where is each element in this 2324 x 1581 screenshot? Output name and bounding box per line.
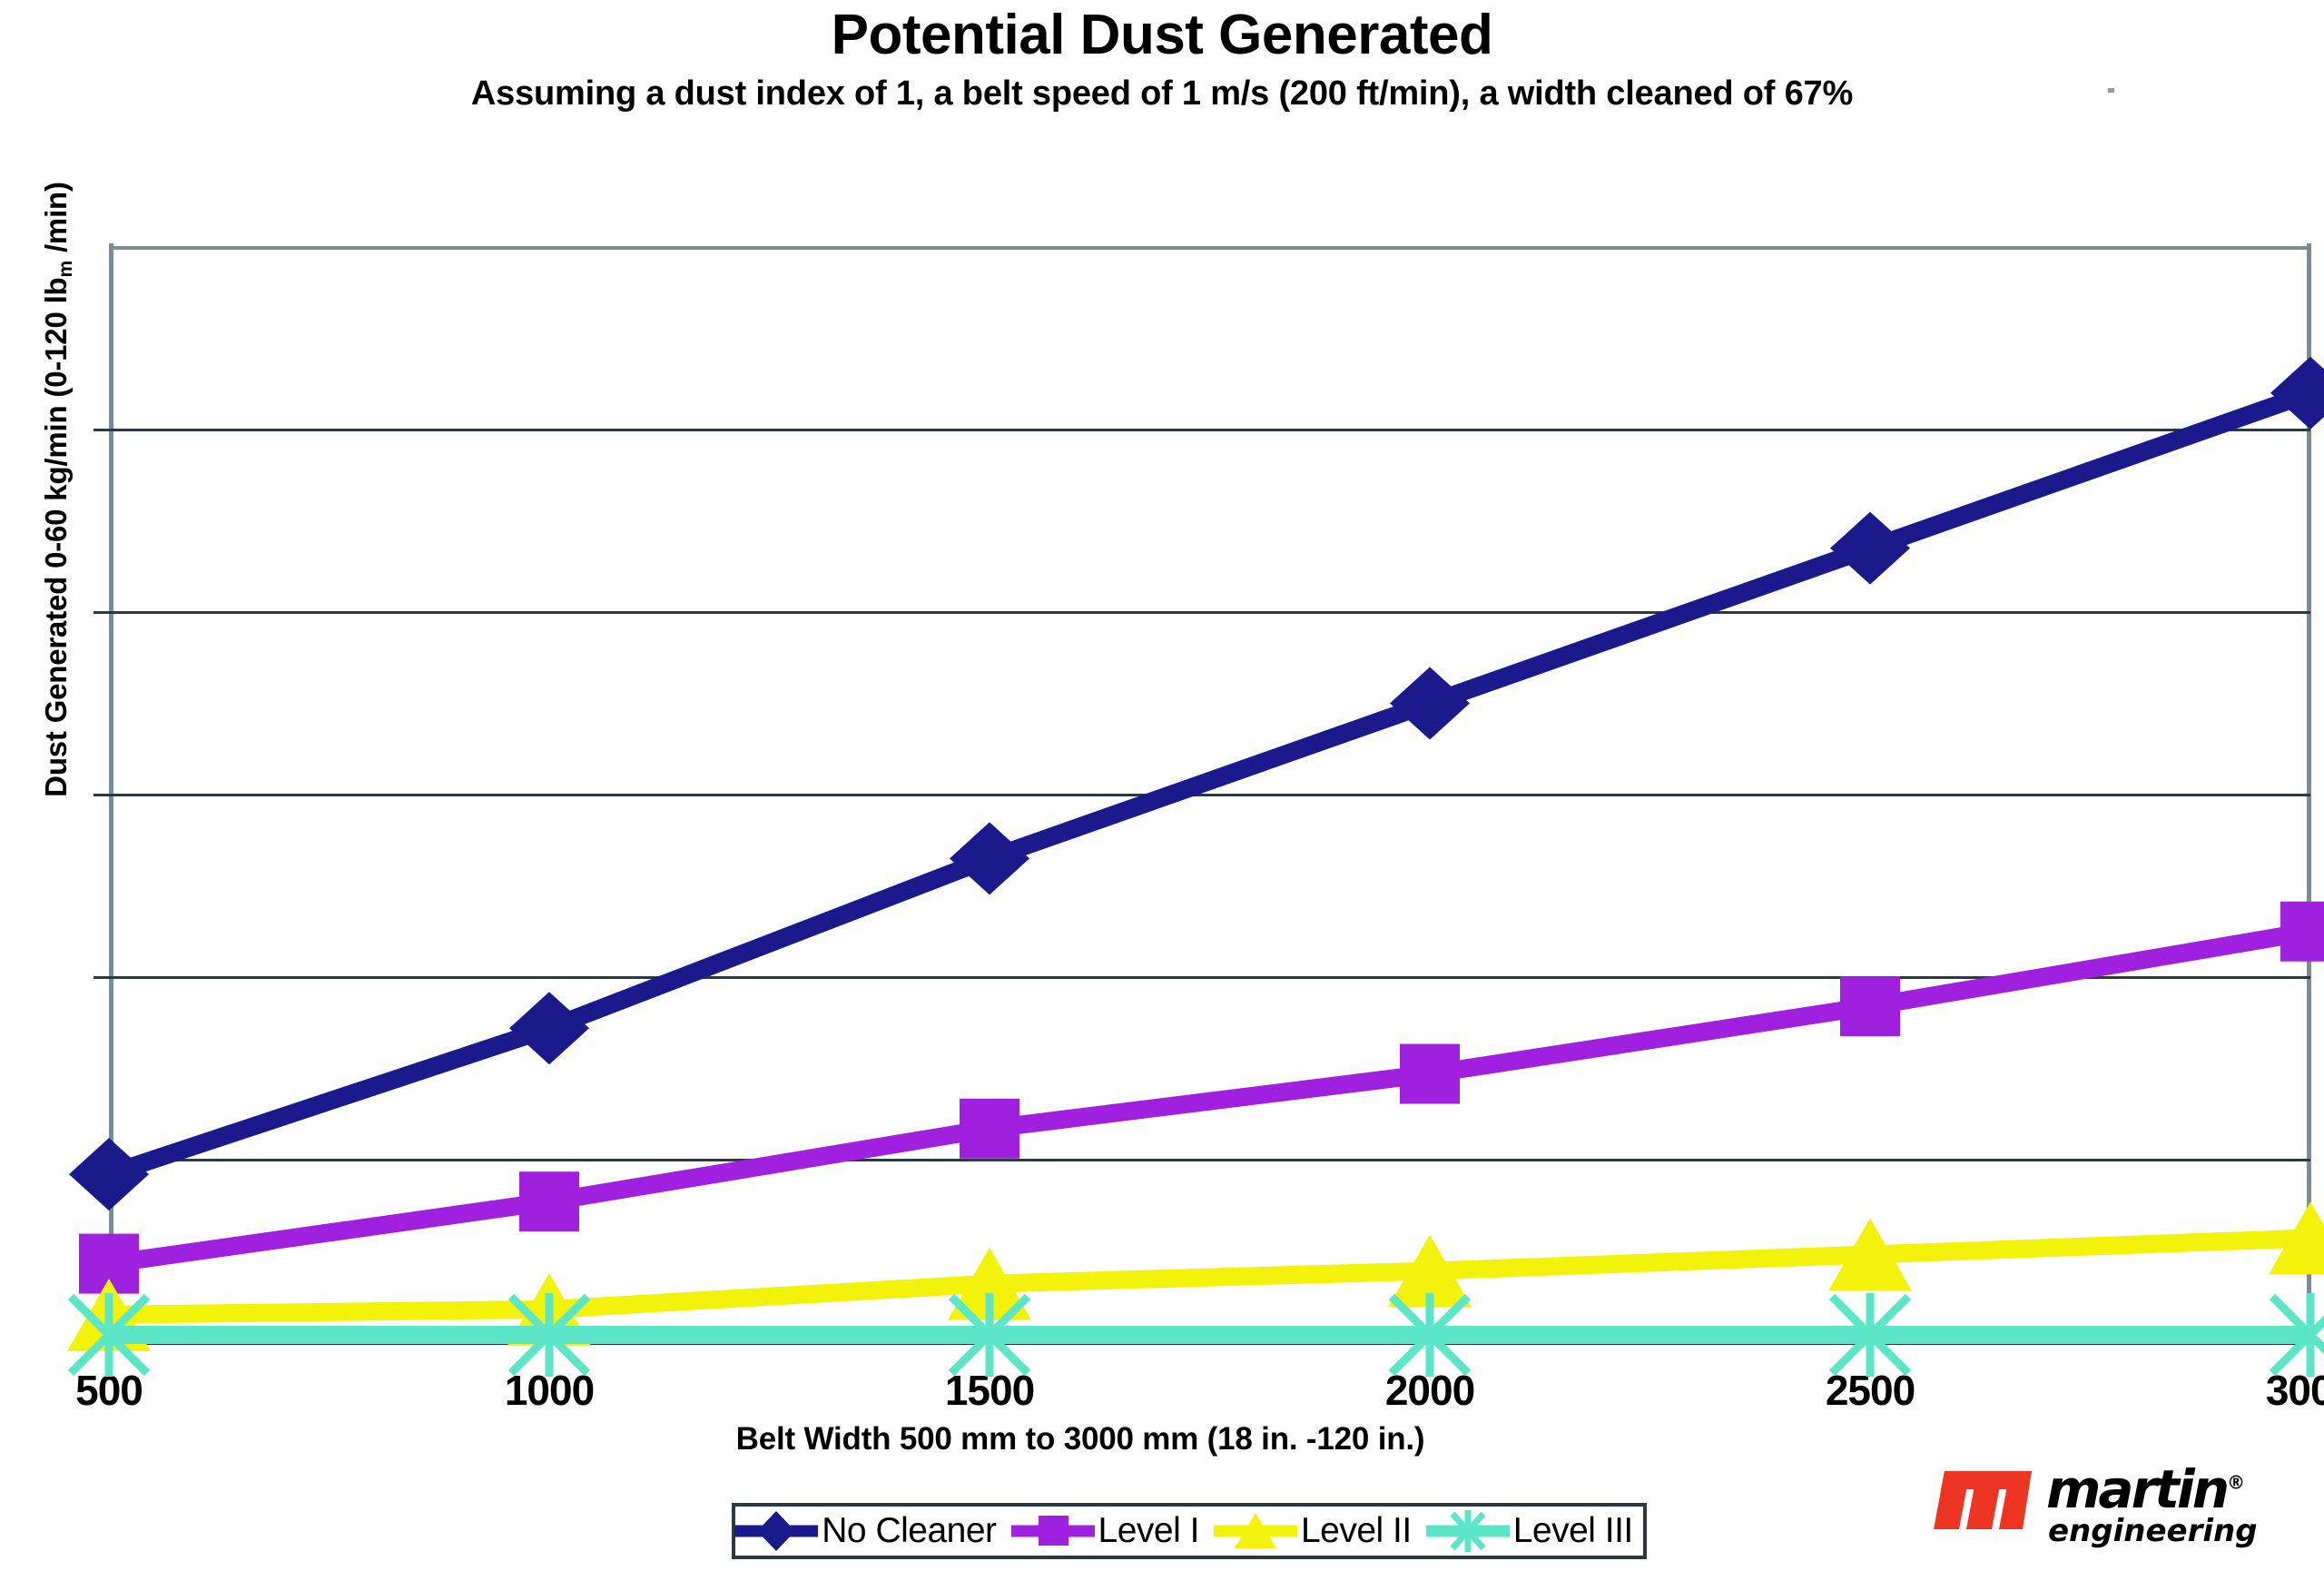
y-axis-title-tail: /min) [39,182,73,261]
legend-label: Level I [1098,1511,1212,1551]
stray-artifact [2108,88,2114,93]
martin-engineering-logo: martin® engineering [1934,1464,2297,1564]
legend-marker-diamond-icon [733,1506,820,1556]
data-point-square [1840,976,1900,1036]
y-axis-title-subscript: m [55,261,76,277]
legend-marker-x-cross-icon [1424,1506,1512,1556]
data-point-square [960,1099,1019,1159]
data-point-diamond [509,992,589,1064]
plot-area: 50010001500200025003000 [109,247,2310,1342]
legend-label: Level II [1301,1511,1424,1551]
martin-m-mark-icon [1934,1466,2032,1535]
legend-marker-triangle-icon [1212,1506,1299,1556]
legend-item[interactable]: Level II [1212,1506,1424,1556]
y-axis-title-main: Dust Generated 0-60 kg/min (0-120 lb [39,277,73,796]
logo-tagline: engineering [2048,1513,2258,1549]
legend-label: Level III [1513,1511,1646,1551]
y-axis-tick [94,429,110,431]
legend-marker-square-icon [1009,1506,1097,1556]
logo-brand-text: martin® [2046,1458,2242,1520]
data-point-square [519,1171,579,1231]
series-no-cleaner [69,357,2324,1210]
chart-legend: No CleanerLevel ILevel IILevel III [732,1503,1647,1559]
data-point-square [2280,902,2324,962]
legend-label: No Cleaner [822,1511,1009,1551]
data-point-diamond [950,822,1029,894]
data-point-diamond [69,1138,149,1210]
data-point-diamond [1830,512,1910,585]
logo-brand-label: martin [2046,1458,2227,1520]
data-point-diamond [2270,357,2324,430]
registered-trademark-icon: ® [2227,1472,2242,1494]
legend-item[interactable]: No Cleaner [733,1506,1009,1556]
chart-subtitle: Assuming a dust index of 1, a belt speed… [0,74,2324,114]
x-axis-title: Belt Width 500 mm to 3000 mm (18 in. -12… [0,1421,2161,1457]
y-axis-title: Dust Generated 0-60 kg/min (0-120 lbm /m… [39,144,74,835]
y-axis-tick [94,976,110,979]
series-level-i [79,902,2324,1294]
y-axis-tick [94,611,110,614]
data-point-square [1400,1044,1460,1104]
data-point-diamond [1390,667,1470,740]
legend-item[interactable]: Level III [1424,1506,1646,1556]
legend-item[interactable]: Level I [1009,1506,1212,1556]
page-title: Potential Dust Generated [0,5,2324,64]
series-layer [109,247,2310,1342]
y-axis-tick [94,794,110,796]
